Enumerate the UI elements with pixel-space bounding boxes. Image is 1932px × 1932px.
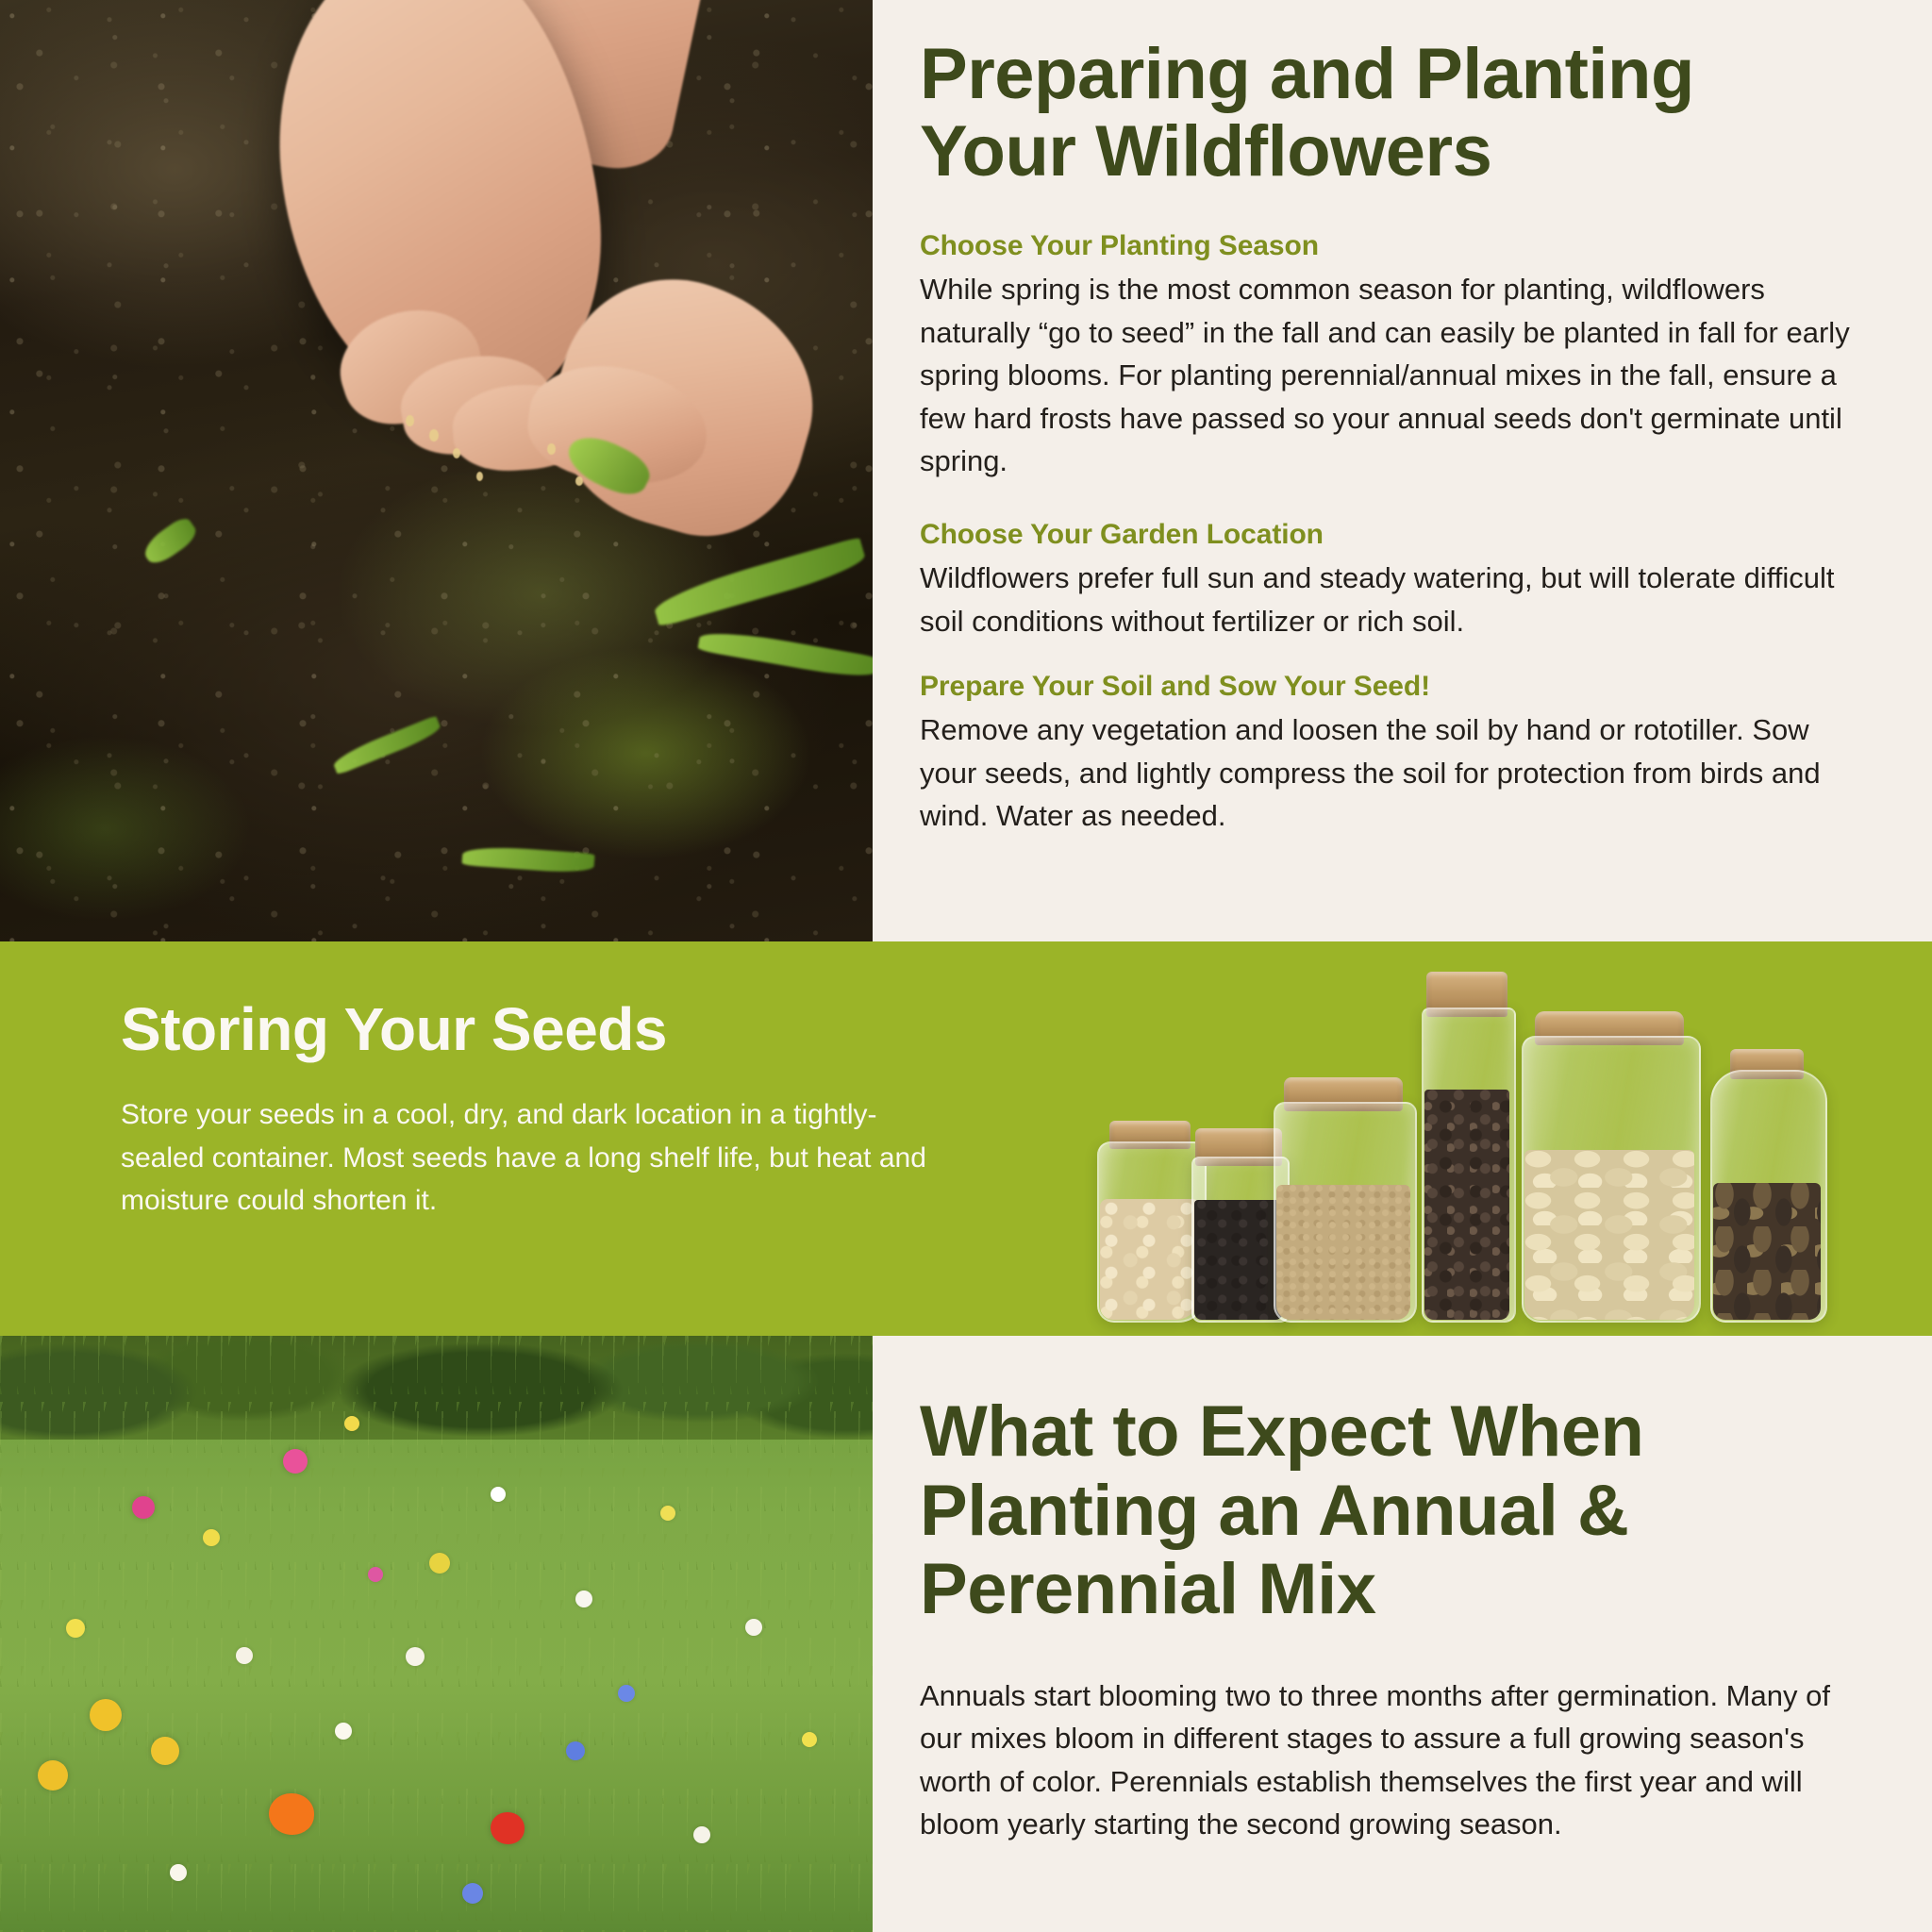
section3-body: Annuals start blooming two to three mont… <box>920 1674 1873 1846</box>
seed-speck <box>575 476 583 486</box>
flower-yellow <box>203 1529 220 1546</box>
flower-orange-poppy <box>269 1793 314 1835</box>
body-choose-planting-season: While spring is the most common season f… <box>920 268 1873 483</box>
flower-white <box>406 1647 425 1666</box>
seed-speck <box>406 415 414 426</box>
flower-white <box>170 1864 187 1881</box>
jar-white-beans <box>1097 1145 1203 1323</box>
section3-title-line2: Planting an Annual & <box>920 1471 1628 1551</box>
section-preparing-and-planting: Preparing and PlantingYour Wildflowers C… <box>0 0 1932 941</box>
flower-pink <box>368 1567 383 1582</box>
section3-title-line1: What to Expect When <box>920 1391 1643 1472</box>
section3-title-line3: Perennial Mix <box>920 1549 1375 1629</box>
seed-speck <box>453 448 460 458</box>
jar-contents-pumpkin-seeds <box>1524 1150 1694 1320</box>
section1-title: Preparing and PlantingYour Wildflowers <box>920 0 1873 191</box>
flower-pink <box>283 1449 308 1474</box>
flower-blue-cornflower <box>462 1883 483 1904</box>
jar-tall-dark-seed <box>1422 1011 1512 1323</box>
flower-white <box>745 1619 762 1636</box>
flower-blue-cornflower <box>566 1741 585 1760</box>
seed-speck <box>429 429 439 441</box>
jar-tan-grain <box>1274 1106 1413 1323</box>
wildflower-meadow-photo <box>0 1336 873 1932</box>
flower-white <box>236 1647 253 1664</box>
grass-texture <box>0 1336 873 1932</box>
flower-yellow <box>802 1732 817 1747</box>
body-choose-garden-location: Wildflowers prefer full sun and steady w… <box>920 557 1873 642</box>
flower-yellow <box>660 1506 675 1521</box>
flower-yellow <box>66 1619 85 1638</box>
jar-contents-mixed-seed <box>1713 1183 1821 1320</box>
flower-red-poppy <box>491 1812 525 1844</box>
section2-body: Store your seeds in a cool, dry, and dar… <box>121 1093 951 1223</box>
section1-title-line1: Preparing and Planting <box>920 34 1694 114</box>
jar-contents-tan-grain <box>1276 1185 1410 1320</box>
flower-white <box>491 1487 506 1502</box>
flower-white <box>335 1723 352 1740</box>
body-prepare-soil-sow-seed: Remove any vegetation and loosen the soi… <box>920 708 1873 838</box>
subhead-choose-garden-location: Choose Your Garden Location <box>920 519 1873 551</box>
section2-text-panel: Storing Your Seeds Store your seeds in a… <box>121 998 951 1223</box>
section3-text-panel: What to Expect WhenPlanting an Annual &P… <box>920 1336 1873 1932</box>
infographic-page: Preparing and PlantingYour Wildflowers C… <box>0 0 1932 1932</box>
flower-yellow <box>344 1416 359 1431</box>
jar-black-seed <box>1191 1160 1286 1323</box>
seed-speck <box>547 443 556 455</box>
flower-yellow <box>429 1553 450 1574</box>
section3-title: What to Expect WhenPlanting an Annual &P… <box>920 1336 1873 1629</box>
section-what-to-expect: What to Expect WhenPlanting an Annual &P… <box>0 1336 1932 1932</box>
seed-speck <box>476 472 483 481</box>
block-prepare-soil: Prepare Your Soil and Sow Your Seed! Rem… <box>920 671 1873 838</box>
flower-white <box>693 1826 710 1843</box>
subhead-prepare-soil-sow-seed: Prepare Your Soil and Sow Your Seed! <box>920 671 1873 703</box>
block-planting-season: Choose Your Planting Season While spring… <box>920 230 1873 483</box>
flower-white <box>575 1591 592 1607</box>
jar-contents-black-seed <box>1194 1200 1283 1320</box>
soil-sowing-photo <box>0 0 873 941</box>
jar-contents-dark-seed <box>1424 1090 1509 1320</box>
seed-jars-photo <box>1071 951 1901 1336</box>
flower-coreopsis <box>90 1699 122 1731</box>
jar-contents-white-beans <box>1100 1199 1200 1320</box>
section2-title: Storing Your Seeds <box>121 998 951 1061</box>
flower-coreopsis <box>38 1760 68 1790</box>
jar-pumpkin-seed <box>1522 1040 1697 1323</box>
section-storing-your-seeds: Storing Your Seeds Store your seeds in a… <box>0 941 1932 1336</box>
jar-mixed-seed <box>1710 1074 1824 1323</box>
section1-text-panel: Preparing and PlantingYour Wildflowers C… <box>920 0 1873 941</box>
subhead-choose-planting-season: Choose Your Planting Season <box>920 230 1873 262</box>
block-garden-location: Choose Your Garden Location Wildflowers … <box>920 519 1873 642</box>
flower-coreopsis <box>151 1737 179 1765</box>
flower-blue-cornflower <box>618 1685 635 1702</box>
flower-pink <box>132 1496 155 1519</box>
section1-title-line2: Your Wildflowers <box>920 111 1491 192</box>
